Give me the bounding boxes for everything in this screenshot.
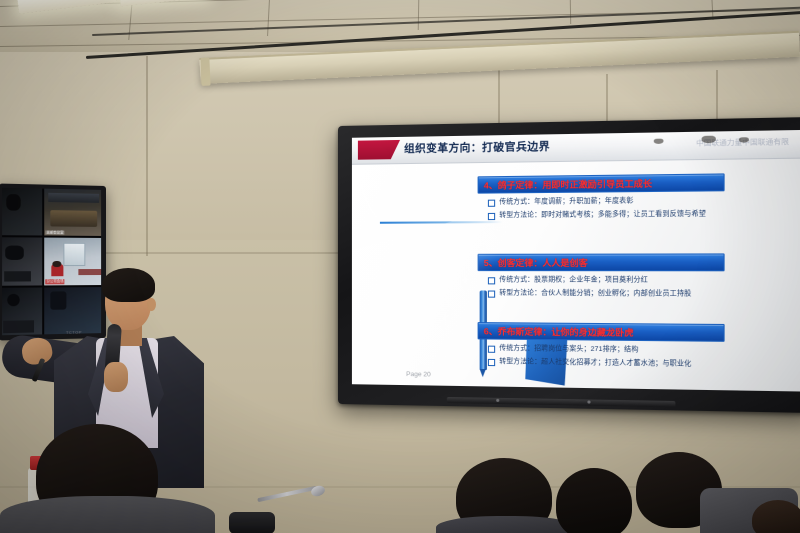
bullet-square-icon [488,200,495,207]
section-heading-bar-4: 4、鸽子定律：用即时正激励引导员工成长 [478,173,725,193]
tv-panel: 组织变革方向：打破官兵边界 中国联通力量中国联通有限 4、鸽子定律：用即时正激励… [352,130,800,392]
audience-shoulder [436,516,576,533]
audience-head [556,468,632,533]
presentation-room-photo: 组织变革方向：打破官兵边界 中国联通力量中国联通有限 4、鸽子定律：用即时正激励… [0,0,800,533]
header-accent-shape [358,140,400,160]
wall-mounted-tv[interactable]: 组织变革方向：打破官兵边界 中国联通力量中国联通有限 4、鸽子定律：用即时正激励… [338,117,800,413]
bullet-square-icon [488,358,495,365]
video-tile-label: 总部会议室 [45,230,64,235]
slide-section-4: 4、鸽子定律：用即时正激励引导员工成长 传统方式：年度调薪；升职加薪；年度表彰 … [478,173,725,223]
section-heading-text-5: 5、创客定律：人人是创客 [484,256,588,268]
bullet-item: 转型方法论：超人社交化招募才；打造人才蓄水池；与职业化 [488,356,725,369]
wall-seam-vertical [146,56,148,256]
video-tile[interactable]: 总部会议室 [44,189,101,237]
bullet-item: 传统方式：招聘岗位与案头；271排序；结构 [488,344,725,357]
mic-base [229,512,275,533]
bullet-square-icon [488,346,495,353]
presenter-mic-hand [104,362,128,392]
presenter-ear [147,298,156,311]
section-bullets-4: 传统方式：年度调薪；升职加薪；年度表彰 转型方法论：即时对赌式考核；多能多得；让… [478,196,725,221]
gooseneck-microphone [215,486,335,532]
bullet-item: 传统方式：年度调薪；升职加薪；年度表彰 [488,196,725,208]
bullet-text: 传统方式：招聘岗位与案头；271排序；结构 [499,344,638,355]
bullet-square-icon [488,212,495,219]
bullet-item: 传统方式：股票期权；企业年金；项目奠利分红 [488,275,725,285]
bullet-square-icon [488,277,495,284]
screen-housing-end-cap [200,58,210,86]
section-heading-text-6: 6、乔布斯定律：让你的身边藏龙卧虎 [484,325,634,339]
bullet-text: 转型方法论：合伙人制能分销；创业孵化；内部创业员工持股 [499,288,691,299]
section-bullets-5: 传统方式：股票期权；企业年金；项目奠利分红 转型方法论：合伙人制能分销；创业孵化… [478,275,725,299]
mic-stem [257,486,317,502]
bullet-text: 传统方式：年度调薪；升职加薪；年度表彰 [499,196,633,207]
slide-section-5: 5、创客定律：人人是创客 传统方式：股票期权；企业年金；项目奠利分红 转型方法论… [478,253,725,302]
slide-title: 组织变革方向：打破官兵边界 [404,138,550,156]
section-heading-text-4: 4、鸽子定律：用即时正激励引导员工成长 [484,177,652,191]
presenter-hair [102,268,155,302]
bullet-text: 传统方式：股票期权；企业年金；项目奠利分红 [499,275,648,285]
bullet-item: 转型方法论：即时对赌式考核；多能多得；让员工看到反馈与希望 [488,209,725,220]
watermark-blob [654,139,664,144]
presentation-slide: 组织变革方向：打破官兵边界 中国联通力量中国联通有限 4、鸽子定律：用即时正激励… [352,130,800,392]
audience-shoulder [0,496,215,533]
audience-head [752,500,800,533]
bullet-text: 转型方法论：超人社交化招募才；打造人才蓄水池；与职业化 [499,357,691,369]
video-tile[interactable] [2,188,42,236]
bullet-square-icon [488,290,495,297]
bullet-item: 转型方法论：合伙人制能分销；创业孵化；内部创业员工持股 [488,288,725,299]
slide-section-6: 6、乔布斯定律：让你的身边藏龙卧虎 传统方式：招聘岗位与案头；271排序；结构 … [478,322,725,372]
section-heading-bar-5: 5、创客定律：人人是创客 [478,253,725,271]
section-heading-bar-6: 6、乔布斯定律：让你的身边藏龙卧虎 [478,322,725,342]
slide-page-number: Page 20 [406,371,431,378]
bullet-text: 转型方法论：即时对赌式考核；多能多得；让员工看到反馈与希望 [499,209,706,220]
wall-seam-vertical [498,70,500,130]
section-bullets-6: 传统方式：招聘岗位与案头；271排序；结构 转型方法论：超人社交化招募才；打造人… [478,343,725,369]
